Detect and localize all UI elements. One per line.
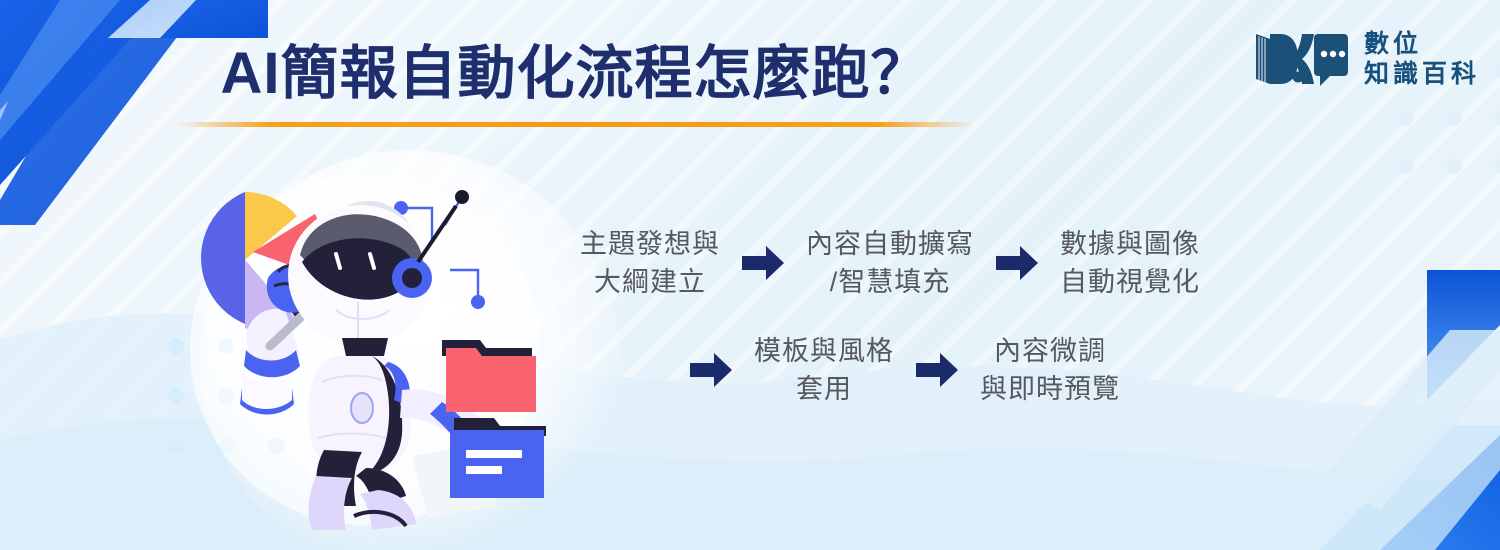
- flow-step-4-line2: 套用: [754, 370, 894, 408]
- title-underline: [175, 122, 975, 127]
- flow-arrow-1-icon: [742, 246, 784, 280]
- ai-robot-illustration: [150, 150, 620, 530]
- flow-step-4-line1: 模板與風格: [754, 332, 894, 370]
- flow-arrow-4-icon: [916, 353, 958, 387]
- flow-arrow-2-icon: [996, 246, 1038, 280]
- flow-step-3-line1: 數據與圖像: [1060, 225, 1200, 263]
- flow-step-5: 內容微調 與即時預覽: [980, 332, 1120, 409]
- flow-step-2: 內容自動擴寫 /智慧填充: [806, 225, 974, 302]
- process-flow: 主題發想與 大綱建立 內容自動擴寫 /智慧填充 數據與圖像 自動視覺化: [580, 225, 1340, 408]
- flow-step-3: 數據與圖像 自動視覺化: [1060, 225, 1200, 302]
- flow-arrow-3-icon: [690, 353, 732, 387]
- flow-step-1: 主題發想與 大綱建立: [580, 225, 720, 302]
- flow-step-1-line2: 大綱建立: [580, 263, 720, 301]
- flow-step-4: 模板與風格 套用: [754, 332, 894, 409]
- page-title: AI簡報自動化流程怎麼跑？: [0, 40, 1150, 108]
- dkp-logo-mark-icon: [1250, 28, 1350, 90]
- flow-step-1-line1: 主題發想與: [580, 225, 720, 263]
- infographic-banner: AI簡報自動化流程怎麼跑？ 數位 知識百科: [0, 0, 1500, 550]
- process-flow-row-1: 主題發想與 大綱建立 內容自動擴寫 /智慧填充 數據與圖像 自動視覺化: [580, 225, 1340, 302]
- flow-step-3-line2: 自動視覺化: [1060, 263, 1200, 301]
- folder-blue: [450, 418, 546, 498]
- flow-step-5-line1: 內容微調: [980, 332, 1120, 370]
- brand-logo-line1: 數位: [1364, 29, 1480, 60]
- flow-step-2-line1: 內容自動擴寫: [806, 225, 974, 263]
- folder-red: [442, 340, 536, 412]
- flow-step-5-line2: 與即時預覽: [980, 370, 1120, 408]
- brand-logo-line2: 知識百科: [1364, 59, 1480, 90]
- brand-logo[interactable]: 數位 知識百科: [1250, 28, 1480, 90]
- flow-step-2-line2: /智慧填充: [806, 263, 974, 301]
- corner-ribbon-bottom-right: [1320, 220, 1500, 550]
- process-flow-row-2: 模板與風格 套用 內容微調 與即時預覽: [668, 332, 1340, 409]
- brand-logo-text: 數位 知識百科: [1364, 29, 1480, 90]
- page-title-block: AI簡報自動化流程怎麼跑？: [0, 40, 1150, 127]
